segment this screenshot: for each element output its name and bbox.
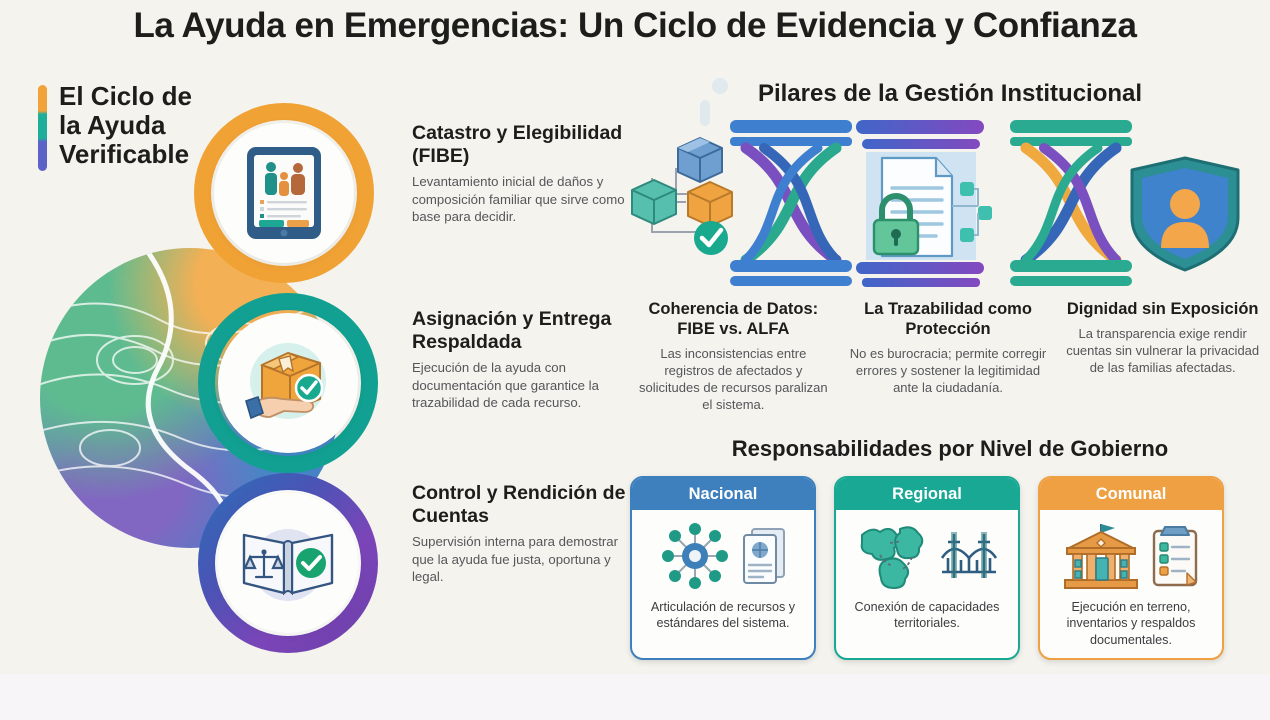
cycle-step-2-text: Asignación y Entrega Respaldada Ejecució… (412, 308, 627, 412)
data-nodes-check-icon (632, 138, 732, 255)
gradient-accent-bar (38, 85, 47, 171)
pillar-column-1-icon (730, 120, 852, 286)
cycle-heading-line-2: la Ayuda (59, 111, 192, 140)
responsibility-card-nacional[interactable]: Nacional (630, 476, 816, 660)
pillars-illustration (630, 110, 1270, 295)
responsibility-card-comunal-text: Ejecución en terreno, inventarios y resp… (1048, 599, 1214, 648)
pillar-2: La Trazabilidad como Protección No es bu… (841, 300, 1056, 413)
cycle-step-3-title: Control y Rendición de Cuentas (412, 482, 627, 528)
cycle-heading-line-3: Verificable (59, 140, 192, 169)
responsibility-card-nacional-label: Nacional (632, 478, 814, 510)
bridge-icon (940, 528, 998, 584)
responsibility-card-nacional-icons (658, 519, 788, 593)
tablet-family-icon (243, 145, 325, 241)
pillar-3: Dignidad sin Exposición La transparencia… (1055, 300, 1270, 413)
network-hub-icon (658, 520, 732, 592)
cycle-step-3-desc: Supervisión interna para demostrar que l… (412, 533, 627, 586)
responsibility-card-regional-label: Regional (836, 478, 1018, 510)
municipal-building-icon (1061, 520, 1141, 592)
pillar-column-3-icon (1010, 120, 1132, 286)
responsibility-card-regional-text: Conexión de capacidades territoriales. (844, 599, 1010, 632)
responsibility-card-comunal-body: Ejecución en terreno, inventarios y resp… (1040, 510, 1222, 658)
clipboard-checklist-icon (1149, 523, 1201, 589)
pillar-2-title: La Trazabilidad como Protección (849, 300, 1048, 340)
cycle-step-1-title: Catastro y Elegibilidad (FIBE) (412, 122, 627, 168)
cycle-step-3-ring (198, 473, 378, 653)
cycle-step-1-text: Catastro y Elegibilidad (FIBE) Levantami… (412, 122, 627, 226)
responsibility-card-regional-icons (856, 519, 998, 593)
page-title: La Ayuda en Emergencias: Un Ciclo de Evi… (0, 6, 1270, 46)
cycle-step-2-desc: Ejecución de la ayuda con documentación … (412, 359, 627, 412)
responsibilities-heading: Responsabilidades por Nivel de Gobierno (630, 436, 1270, 462)
open-book-scales-check-icon (236, 519, 340, 607)
cycle-step-3-text: Control y Rendición de Cuentas Supervisi… (412, 482, 627, 586)
bottom-band (0, 674, 1270, 720)
cycle-step-2-ring (198, 293, 378, 473)
responsibility-card-comunal-label: Comunal (1040, 478, 1222, 510)
pillars-heading: Pilares de la Gestión Institucional (630, 80, 1270, 108)
pillars-text-row: Coherencia de Datos: FIBE vs. ALFA Las i… (626, 300, 1270, 413)
cycle-step-2-icon-circle (218, 313, 358, 453)
cycle-heading-line-1: El Ciclo de (59, 82, 192, 111)
responsibility-card-comunal[interactable]: Comunal (1038, 476, 1224, 660)
cycle-step-3-icon-circle (218, 493, 358, 633)
pillar-1-title: Coherencia de Datos: FIBE vs. ALFA (634, 300, 833, 340)
pillar-3-title: Dignidad sin Exposición (1063, 300, 1262, 320)
cycle-heading: El Ciclo de la Ayuda Verificable (38, 82, 192, 171)
pillar-1-desc: Las inconsistencias entre registros de a… (634, 345, 833, 414)
responsibilities-cards: Nacional (630, 476, 1266, 660)
cycle-step-1-desc: Levantamiento inicial de daños y composi… (412, 173, 627, 226)
cycle-heading-text: El Ciclo de la Ayuda Verificable (59, 82, 192, 169)
responsibility-card-comunal-icons (1061, 519, 1201, 593)
pillar-1: Coherencia de Datos: FIBE vs. ALFA Las i… (626, 300, 841, 413)
territory-map-icon (856, 521, 932, 591)
infographic-page: La Ayuda en Emergencias: Un Ciclo de Evi… (0, 0, 1270, 720)
hand-package-check-icon (236, 337, 340, 429)
responsibility-card-nacional-text: Articulación de recursos y estándares de… (640, 599, 806, 632)
pillar-3-desc: La transparencia exige rendir cuentas si… (1063, 325, 1262, 376)
responsibility-card-nacional-body: Articulación de recursos y estándares de… (632, 510, 814, 658)
responsibility-card-regional-body: Conexión de capacidades territoriales. (836, 510, 1018, 658)
cycle-step-2-title: Asignación y Entrega Respaldada (412, 308, 627, 354)
responsibility-card-regional[interactable]: Regional (834, 476, 1020, 660)
shield-person-icon (1132, 158, 1238, 270)
cycle-step-1-icon-circle (214, 123, 354, 263)
cycle-rings (150, 95, 450, 675)
cycle-step-1-ring (194, 103, 374, 283)
documents-icon (740, 525, 788, 587)
pillar-2-desc: No es burocracia; permite corregir error… (849, 345, 1048, 396)
pillars-art-svg (630, 110, 1270, 295)
